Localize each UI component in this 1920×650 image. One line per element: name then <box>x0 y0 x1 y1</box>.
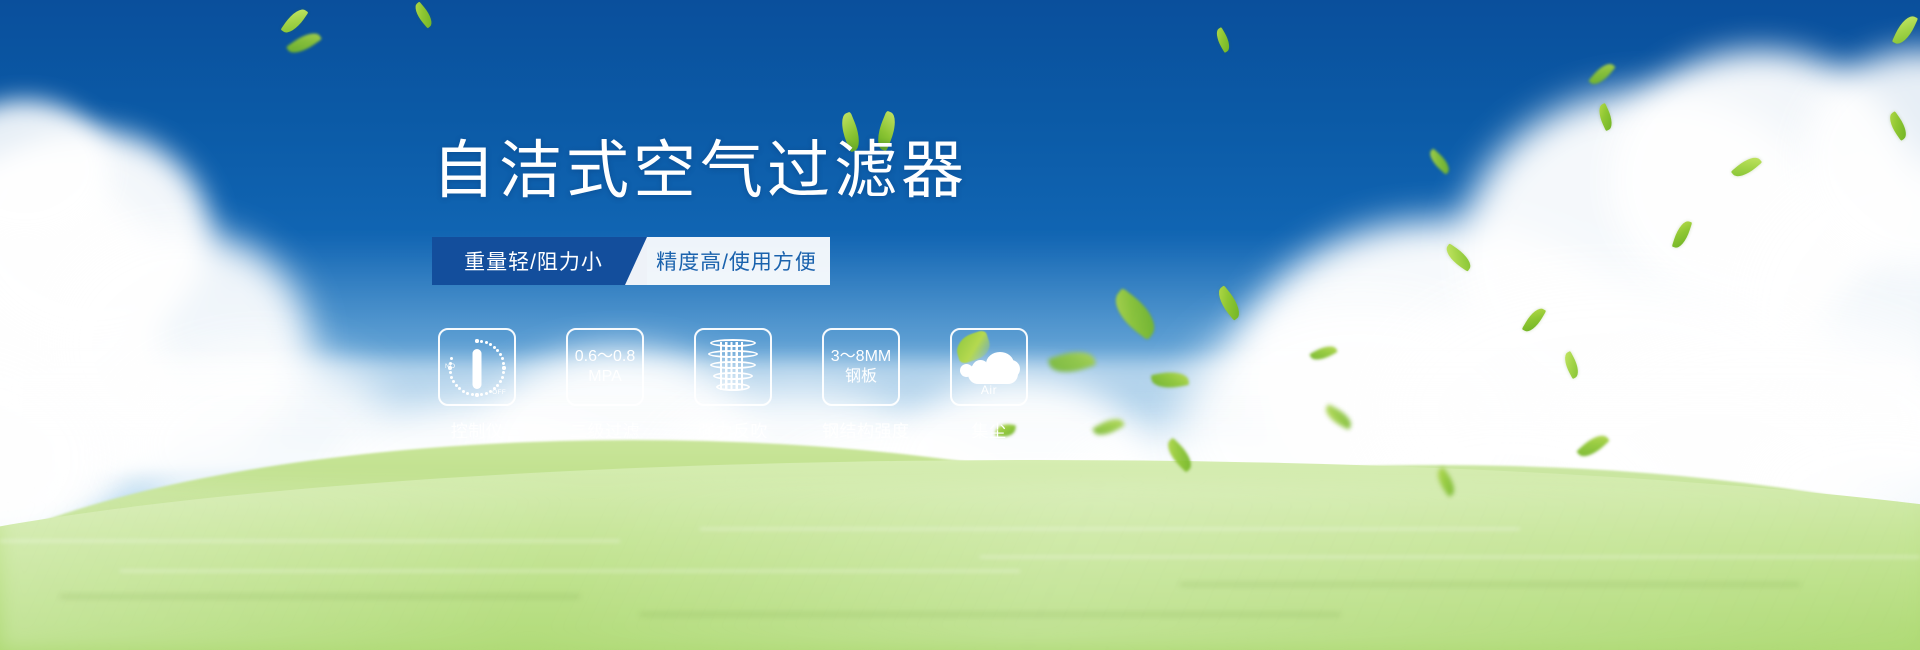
dial-gauge-icon: NO OFF <box>446 337 508 397</box>
banner-content: 自洁式空气过滤器 重量轻/阻力小 精度高/使用方便 NO OFF <box>0 0 1920 650</box>
tab-lightweight-lowresistance[interactable]: 重量轻/阻力小 <box>432 237 647 285</box>
feature-text-line1: 0.6〜0.8 <box>575 348 636 365</box>
feature-caption: 钢结构强度 <box>822 417 900 442</box>
tab-label: 重量轻/阻力小 <box>464 246 603 276</box>
feature-list: NO OFF 控制仪 0.6〜0.8 MPA 二级过滤 <box>438 328 1028 442</box>
dial-knob <box>473 349 482 389</box>
feature-text-line1: 3〜8MM <box>831 348 891 365</box>
pressure-text-icon: 0.6〜0.8 MPA <box>575 347 636 387</box>
feature-icon-box <box>694 328 772 406</box>
feature-caption: 集尘 <box>950 417 1028 442</box>
feature-item-controller[interactable]: NO OFF 控制仪 <box>438 328 516 442</box>
spring-coil-icon <box>705 338 761 396</box>
tab-highprecision-easyuse[interactable]: 精度高/使用方便 <box>625 237 830 285</box>
banner-title: 自洁式空气过滤器 <box>432 140 968 203</box>
feature-item-steel-strength[interactable]: 3〜8MM 钢板 钢结构强度 <box>822 328 900 442</box>
feature-text-line2: MPA <box>575 367 636 387</box>
feature-item-two-stage-filter[interactable]: 0.6〜0.8 MPA 二级过滤 <box>566 328 644 442</box>
hero-banner: 自洁式空气过滤器 重量轻/阻力小 精度高/使用方便 NO OFF <box>0 0 1920 650</box>
feature-icon-box: Air <box>950 328 1028 406</box>
air-label: Air <box>958 383 1020 397</box>
dial-on-label: NO <box>445 363 455 370</box>
feature-item-dust-collection[interactable]: Air 集尘 <box>950 328 1028 442</box>
feature-caption: 控制仪 <box>438 417 516 442</box>
feature-caption: 二级过滤 <box>566 417 644 442</box>
feature-tabs: 重量轻/阻力小 精度高/使用方便 <box>432 237 830 285</box>
feature-icon-box: 0.6〜0.8 MPA <box>566 328 644 406</box>
steel-plate-text-icon: 3〜8MM 钢板 <box>831 347 891 387</box>
feature-caption: 强力反吹 <box>694 417 772 442</box>
feature-icon-box: NO OFF <box>438 328 516 406</box>
feature-icon-box: 3〜8MM 钢板 <box>822 328 900 406</box>
tab-label: 精度高/使用方便 <box>656 246 817 276</box>
feature-text-line2: 钢板 <box>831 367 891 387</box>
air-cloud-icon: Air <box>958 338 1020 396</box>
dial-off-label: OFF <box>492 389 506 396</box>
feature-item-strong-backblow[interactable]: 强力反吹 <box>694 328 772 442</box>
